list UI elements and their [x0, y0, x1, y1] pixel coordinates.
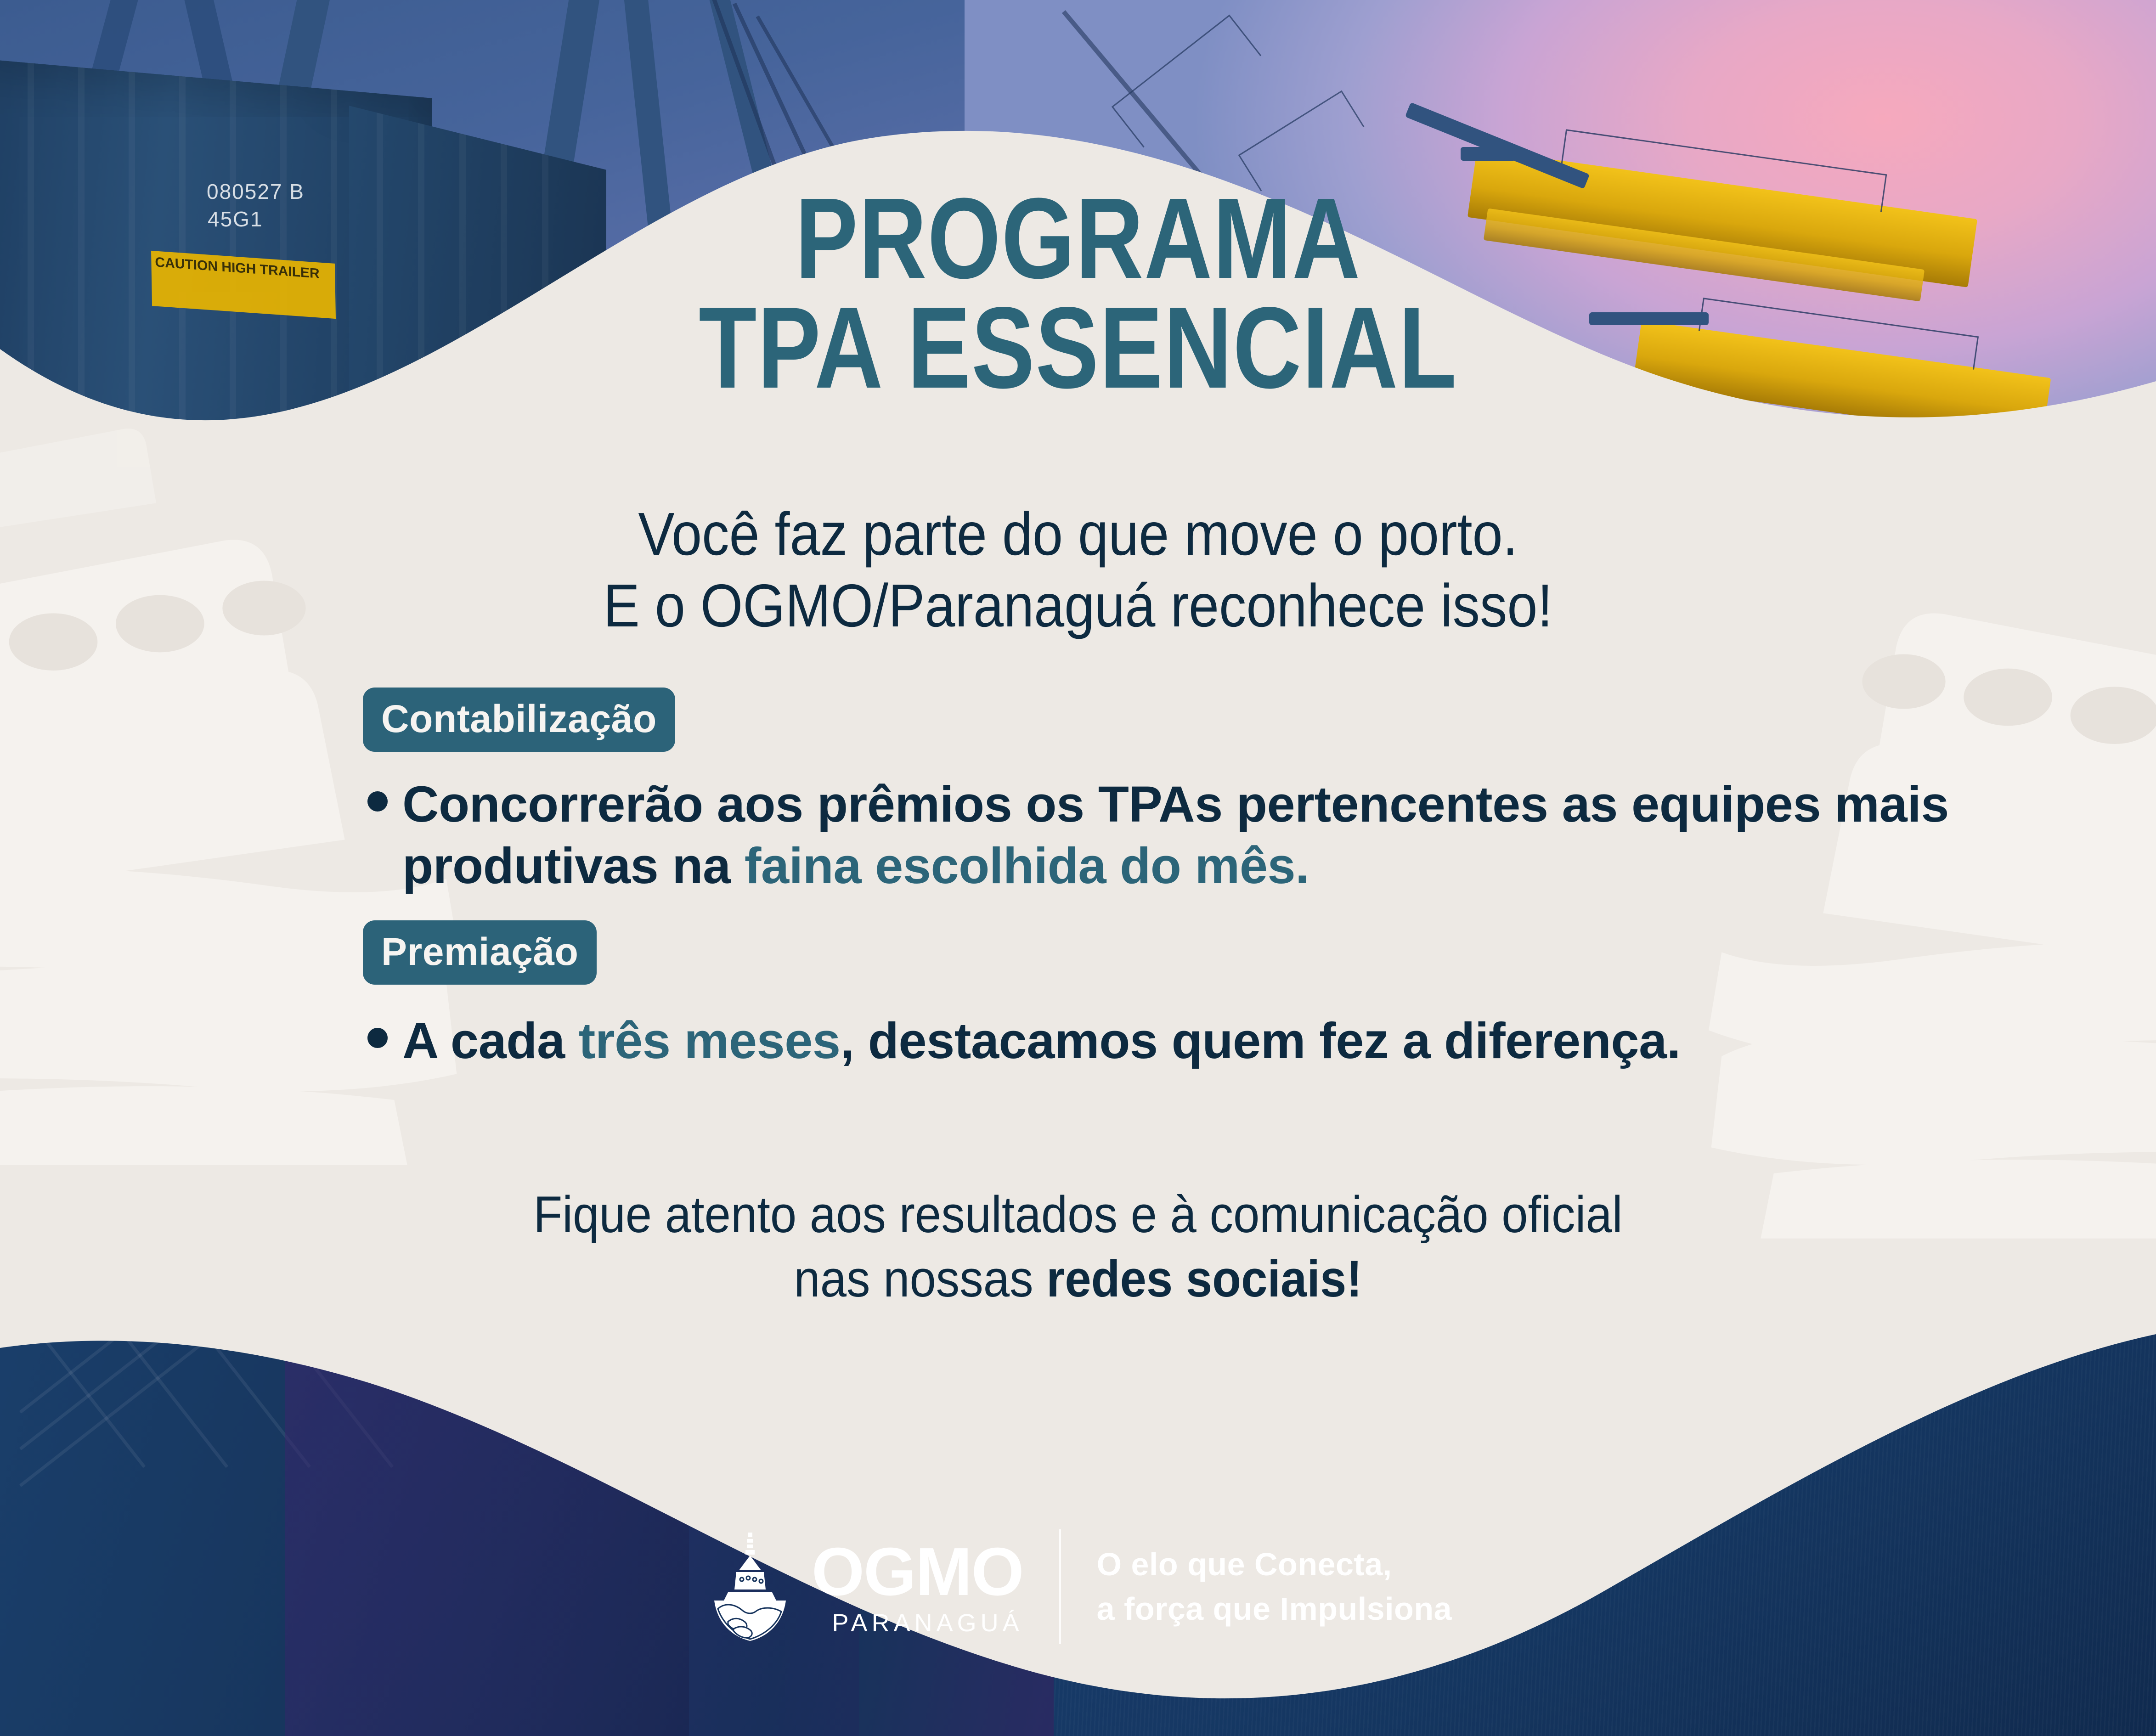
bullet-text-contabilizacao: Concorrerão aos prêmios os TPAs pertence… [402, 774, 2003, 897]
bullet-text-plain-start: A cada [402, 1013, 579, 1069]
ogmo-handshake-ship-icon [704, 1532, 796, 1642]
bullet-text-highlight: três meses [579, 1013, 841, 1069]
subtitle-line-2: E o OGMO/Paranaguá reconhece isso! [108, 570, 2049, 642]
bullet-dot-icon [367, 791, 388, 812]
section-badge-premiacao-wrap: Premiação [363, 920, 597, 985]
section-badge-premiacao: Premiação [363, 920, 597, 985]
bullet-item-contabilizacao: Concorrerão aos prêmios os TPAs pertence… [367, 774, 2003, 897]
footer-lockup: OGMO PARANAGUÁ O elo que Conecta, a forç… [0, 1529, 2156, 1644]
closing-line-2: nas nossas redes sociais! [86, 1247, 2070, 1311]
footer-tagline: O elo que Conecta, a força que Impulsion… [1097, 1542, 1452, 1631]
ogmo-subtitle: PARANAGUÁ [812, 1611, 1023, 1635]
page-title: PROGRAMA TPA ESSENCIAL [194, 184, 1962, 403]
footer-divider [1059, 1529, 1061, 1644]
closing-message: Fique atento aos resultados e à comunica… [86, 1183, 2070, 1311]
title-line-2: TPA ESSENCIAL [194, 293, 1962, 403]
section-badge-contabilizacao: Contabilização [363, 688, 675, 752]
tagline-line-1: O elo que Conecta, [1097, 1542, 1452, 1587]
tagline-line-2: a força que Impulsiona [1097, 1587, 1452, 1631]
bullet-text-plain-end: , destacamos quem fez a diferença. [841, 1013, 1681, 1069]
bullet-item-premiacao: A cada três meses, destacamos quem fez a… [367, 1010, 2003, 1072]
ogmo-logo: OGMO PARANAGUÁ [704, 1532, 1023, 1642]
closing-line-2-plain: nas nossas [794, 1250, 1046, 1308]
subtitle-line-1: Você faz parte do que move o porto. [108, 498, 2049, 570]
ogmo-name: OGMO [812, 1538, 1023, 1606]
section-badge-contabilizacao-wrap: Contabilização [363, 688, 675, 752]
bullet-dot-icon [367, 1028, 388, 1048]
poster-canvas: 080527 B 45G1 CAUTION HIGH TRAILER [0, 0, 2156, 1736]
subtitle: Você faz parte do que move o porto. E o … [108, 498, 2049, 642]
bullet-text-highlight: faina escolhida do mês. [745, 838, 1309, 894]
content-layer: PROGRAMA TPA ESSENCIAL Você faz parte do… [0, 0, 2156, 1736]
ogmo-wordmark: OGMO PARANAGUÁ [812, 1538, 1023, 1635]
closing-line-1: Fique atento aos resultados e à comunica… [86, 1183, 2070, 1247]
bullet-text-premiacao: A cada três meses, destacamos quem fez a… [402, 1010, 1681, 1072]
closing-line-2-bold: redes sociais! [1046, 1250, 1362, 1308]
